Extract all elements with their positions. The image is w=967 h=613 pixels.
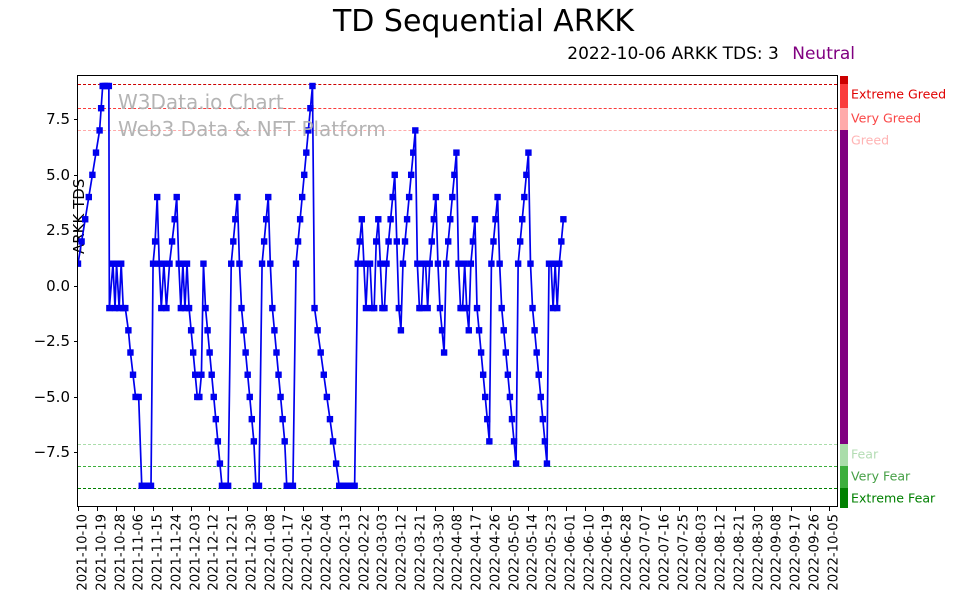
data-point-marker — [363, 305, 369, 311]
x-tick-label: 2022-01-26 — [301, 514, 316, 591]
x-tick-mark — [360, 506, 361, 511]
data-point-marker — [200, 260, 206, 266]
x-tick-mark — [435, 506, 436, 511]
x-tick-mark — [566, 506, 567, 511]
data-point-marker — [230, 238, 236, 244]
x-tick-label: 2022-02-04 — [319, 514, 334, 591]
x-tick-mark — [228, 506, 229, 511]
x-tick-label: 2022-03-30 — [432, 514, 447, 591]
data-point-marker — [449, 194, 455, 200]
data-point-marker — [482, 394, 488, 400]
data-point-marker — [169, 238, 175, 244]
x-tick-mark — [153, 506, 154, 511]
x-tick-label: 2022-09-08 — [770, 514, 785, 591]
data-point-marker — [429, 238, 435, 244]
data-point-marker — [234, 194, 240, 200]
data-point-marker — [466, 327, 472, 333]
data-point-marker — [122, 305, 128, 311]
data-point-marker — [375, 216, 381, 222]
data-point-marker — [152, 238, 158, 244]
plot-area[interactable]: ARKK TDS 7.55.02.50.0−2.5−5.0−7.52021-10… — [77, 75, 838, 507]
data-point-marker — [184, 260, 190, 266]
data-point-marker — [387, 216, 393, 222]
data-point-marker — [554, 305, 560, 311]
x-tick-label: 2022-03-03 — [376, 514, 391, 591]
data-point-marker — [505, 372, 511, 378]
data-point-marker — [242, 349, 248, 355]
series-path — [78, 86, 563, 486]
data-point-marker — [236, 260, 242, 266]
data-point-marker — [301, 172, 307, 178]
cb-very-fear — [840, 466, 848, 488]
colorbar-label-fear: Fear — [851, 446, 878, 461]
data-point-marker — [148, 483, 154, 489]
data-point-marker — [519, 216, 525, 222]
x-tick-label: 2021-12-30 — [244, 514, 259, 591]
x-tick-label: 2022-05-23 — [545, 514, 560, 591]
data-point-marker — [431, 216, 437, 222]
data-point-marker — [536, 372, 542, 378]
x-tick-label: 2021-11-24 — [169, 514, 184, 591]
data-point-marker — [400, 260, 406, 266]
data-point-marker — [435, 260, 441, 266]
data-point-marker — [398, 327, 404, 333]
x-tick-mark — [679, 506, 680, 511]
data-point-marker — [513, 460, 519, 466]
data-point-marker — [93, 149, 99, 155]
data-point-marker — [247, 394, 253, 400]
data-point-marker — [406, 194, 412, 200]
data-point-marker — [275, 372, 281, 378]
x-tick-label: 2021-12-03 — [188, 514, 203, 591]
data-point-marker — [377, 260, 383, 266]
data-point-marker — [464, 305, 470, 311]
data-point-marker — [381, 305, 387, 311]
y-tick-label: −5.0 — [34, 388, 70, 406]
data-point-marker — [327, 416, 333, 422]
data-point-marker — [251, 438, 257, 444]
data-point-marker — [213, 416, 219, 422]
data-point-marker — [389, 194, 395, 200]
chart-subtitle: 2022-10-06 ARKK TDS: 3 Neutral — [0, 44, 855, 64]
data-point-marker — [538, 394, 544, 400]
data-point-marker — [293, 260, 299, 266]
x-tick-mark — [603, 506, 604, 511]
data-point-marker — [439, 327, 445, 333]
chart-title: TD Sequential ARKK — [0, 4, 967, 39]
data-point-marker — [542, 438, 548, 444]
x-tick-mark — [116, 506, 117, 511]
data-point-marker — [198, 372, 204, 378]
data-point-marker — [414, 260, 420, 266]
data-point-marker — [106, 305, 112, 311]
x-tick-label: 2022-07-07 — [639, 514, 654, 591]
colorbar-label-very-fear: Very Fear — [851, 468, 910, 483]
x-tick-label: 2022-01-17 — [282, 514, 297, 591]
data-point-marker — [282, 438, 288, 444]
data-point-marker — [82, 216, 88, 222]
data-point-marker — [437, 305, 443, 311]
data-point-marker — [89, 172, 95, 178]
x-tick-mark — [97, 506, 98, 511]
data-point-marker — [269, 305, 275, 311]
colorbar-label-greed: Greed — [851, 133, 889, 148]
x-tick-label: 2022-08-12 — [714, 514, 729, 591]
cb-neutral — [840, 130, 848, 443]
data-point-marker — [265, 194, 271, 200]
x-tick-label: 2021-10-19 — [94, 514, 109, 591]
x-tick-mark — [209, 506, 210, 511]
data-point-marker — [560, 216, 566, 222]
data-point-marker — [509, 416, 515, 422]
x-tick-label: 2022-07-25 — [676, 514, 691, 591]
data-point-marker — [311, 305, 317, 311]
x-tick-label: 2022-04-26 — [488, 514, 503, 591]
data-point-marker — [314, 327, 320, 333]
data-point-marker — [118, 260, 124, 266]
data-point-marker — [161, 260, 167, 266]
data-point-marker — [492, 216, 498, 222]
data-point-marker — [529, 305, 535, 311]
data-point-marker — [166, 260, 172, 266]
x-tick-label: 2022-06-28 — [620, 514, 635, 591]
data-point-marker — [330, 438, 336, 444]
status-badge-mood: Neutral — [792, 44, 855, 64]
data-point-marker — [531, 327, 537, 333]
data-point-marker — [86, 194, 92, 200]
data-point-marker — [163, 305, 169, 311]
x-tick-mark — [660, 506, 661, 511]
data-point-marker — [125, 327, 131, 333]
data-point-marker — [441, 349, 447, 355]
x-tick-label: 2022-09-17 — [789, 514, 804, 591]
data-point-marker — [244, 372, 250, 378]
y-tick-label: 2.5 — [46, 221, 70, 239]
data-point-marker — [527, 260, 533, 266]
data-point-marker — [412, 127, 418, 133]
x-tick-label: 2022-02-22 — [357, 514, 372, 591]
x-tick-mark — [341, 506, 342, 511]
data-point-marker — [256, 483, 262, 489]
data-point-marker — [468, 260, 474, 266]
x-tick-mark — [453, 506, 454, 511]
x-tick-mark — [416, 506, 417, 511]
data-point-marker — [474, 305, 480, 311]
data-point-marker — [318, 349, 324, 355]
data-point-marker — [501, 327, 507, 333]
x-tick-label: 2022-04-17 — [470, 514, 485, 591]
data-point-marker — [373, 238, 379, 244]
data-point-marker — [303, 149, 309, 155]
data-point-marker — [127, 349, 133, 355]
x-tick-mark — [266, 506, 267, 511]
data-point-marker — [309, 83, 315, 89]
data-point-marker — [461, 260, 467, 266]
data-point-marker — [217, 460, 223, 466]
x-tick-mark — [772, 506, 773, 511]
data-point-marker — [321, 372, 327, 378]
data-point-marker — [267, 260, 273, 266]
data-point-marker — [490, 238, 496, 244]
data-point-marker — [511, 438, 517, 444]
data-point-marker — [455, 260, 461, 266]
x-tick-mark — [829, 506, 830, 511]
x-tick-mark — [284, 506, 285, 511]
x-tick-mark — [547, 506, 548, 511]
x-tick-label: 2021-11-15 — [151, 514, 166, 591]
data-point-marker — [295, 238, 301, 244]
x-tick-mark — [134, 506, 135, 511]
data-point-marker — [498, 305, 504, 311]
x-tick-label: 2022-05-05 — [507, 514, 522, 591]
data-point-marker — [192, 372, 198, 378]
data-point-marker — [540, 416, 546, 422]
x-tick-label: 2021-12-12 — [207, 514, 222, 591]
data-point-marker — [447, 216, 453, 222]
data-point-marker — [515, 260, 521, 266]
x-tick-mark — [641, 506, 642, 511]
data-point-marker — [472, 216, 478, 222]
data-point-marker — [273, 349, 279, 355]
x-tick-label: 2022-08-03 — [695, 514, 710, 591]
x-tick-label: 2022-08-21 — [732, 514, 747, 591]
data-point-marker — [249, 416, 255, 422]
x-tick-mark — [585, 506, 586, 511]
data-point-marker — [453, 149, 459, 155]
cb-very-greed — [840, 84, 848, 108]
data-point-marker — [215, 438, 221, 444]
data-point-marker — [208, 372, 214, 378]
data-point-marker — [324, 394, 330, 400]
x-tick-mark — [735, 506, 736, 511]
x-tick-mark — [397, 506, 398, 511]
x-tick-label: 2022-01-08 — [263, 514, 278, 591]
data-point-marker — [78, 238, 84, 244]
x-tick-label: 2022-08-30 — [751, 514, 766, 591]
data-point-marker — [186, 305, 192, 311]
data-point-marker — [211, 394, 217, 400]
data-point-marker — [558, 238, 564, 244]
data-point-marker — [507, 394, 513, 400]
x-tick-mark — [378, 506, 379, 511]
data-point-marker — [486, 438, 492, 444]
data-point-marker — [135, 394, 141, 400]
data-point-marker — [130, 372, 136, 378]
x-tick-label: 2022-05-14 — [526, 514, 541, 591]
data-point-marker — [533, 349, 539, 355]
x-tick-label: 2021-12-21 — [226, 514, 241, 591]
data-point-marker — [154, 194, 160, 200]
x-tick-label: 2022-04-08 — [451, 514, 466, 591]
data-point-marker — [261, 238, 267, 244]
x-tick-mark — [622, 506, 623, 511]
watermark-line-2: Web3 Data & NFT Platform — [118, 117, 386, 141]
data-point-marker — [238, 305, 244, 311]
data-point-marker — [299, 194, 305, 200]
colorbar-label-very-greed: Very Greed — [851, 111, 921, 126]
data-point-marker — [106, 83, 112, 89]
x-tick-mark — [528, 506, 529, 511]
x-tick-label: 2021-10-28 — [113, 514, 128, 591]
data-point-marker — [503, 349, 509, 355]
data-point-marker — [451, 172, 457, 178]
data-point-marker — [392, 172, 398, 178]
data-point-marker — [544, 460, 550, 466]
x-tick-mark — [472, 506, 473, 511]
colorbar-label-extreme-fear: Extreme Fear — [851, 491, 935, 506]
x-tick-label: 2022-06-19 — [601, 514, 616, 591]
data-point-marker — [521, 194, 527, 200]
x-tick-mark — [791, 506, 792, 511]
cb-extreme-fear — [840, 488, 848, 508]
data-point-marker — [190, 349, 196, 355]
x-tick-mark — [191, 506, 192, 511]
data-point-marker — [367, 260, 373, 266]
data-point-marker — [228, 260, 234, 266]
data-point-marker — [351, 483, 357, 489]
data-point-marker — [171, 216, 177, 222]
data-point-marker — [355, 260, 361, 266]
data-point-marker — [78, 260, 81, 266]
data-point-marker — [394, 238, 400, 244]
x-tick-mark — [754, 506, 755, 511]
data-point-marker — [277, 394, 283, 400]
y-tick-label: 0.0 — [46, 277, 70, 295]
x-tick-label: 2022-02-13 — [338, 514, 353, 591]
data-point-marker — [279, 416, 285, 422]
data-point-marker — [404, 216, 410, 222]
cb-greed — [840, 108, 848, 130]
y-tick-label: 7.5 — [46, 110, 70, 128]
x-tick-mark — [322, 506, 323, 511]
data-point-marker — [225, 483, 231, 489]
data-point-marker — [488, 260, 494, 266]
x-tick-label: 2021-10-10 — [76, 514, 91, 591]
data-point-marker — [206, 349, 212, 355]
x-tick-label: 2022-10-05 — [826, 514, 841, 591]
data-point-marker — [445, 238, 451, 244]
data-point-marker — [271, 327, 277, 333]
cb-fear — [840, 444, 848, 466]
data-point-marker — [408, 172, 414, 178]
x-tick-label: 2022-07-16 — [657, 514, 672, 591]
y-tick-label: 5.0 — [46, 166, 70, 184]
colorbar-label-extreme-greed: Extreme Greed — [851, 86, 946, 101]
data-point-marker — [307, 105, 313, 111]
data-point-marker — [188, 327, 194, 333]
x-tick-mark — [810, 506, 811, 511]
data-point-marker — [476, 327, 482, 333]
data-point-marker — [470, 238, 476, 244]
data-point-marker — [357, 238, 363, 244]
data-point-marker — [196, 394, 202, 400]
x-tick-mark — [510, 506, 511, 511]
data-point-marker — [359, 216, 365, 222]
data-point-marker — [523, 172, 529, 178]
x-tick-label: 2022-03-12 — [395, 514, 410, 591]
x-tick-mark — [78, 506, 79, 511]
cb-extreme-greed — [840, 76, 848, 84]
data-point-marker — [204, 327, 210, 333]
data-point-marker — [232, 216, 238, 222]
subtitle-value: 2022-10-06 ARKK TDS: 3 — [567, 44, 779, 64]
data-point-marker — [480, 372, 486, 378]
data-point-marker — [433, 194, 439, 200]
watermark-line-1: W3Data.io Chart — [118, 90, 284, 114]
data-point-marker — [240, 327, 246, 333]
data-point-marker — [484, 416, 490, 422]
data-point-marker — [202, 305, 208, 311]
data-point-marker — [174, 194, 180, 200]
data-point-marker — [150, 260, 156, 266]
data-point-marker — [418, 305, 424, 311]
x-tick-mark — [491, 506, 492, 511]
x-tick-mark — [303, 506, 304, 511]
data-point-marker — [385, 238, 391, 244]
data-point-marker — [478, 349, 484, 355]
data-point-marker — [410, 149, 416, 155]
data-point-marker — [371, 305, 377, 311]
data-point-marker — [297, 216, 303, 222]
data-point-marker — [96, 127, 102, 133]
data-point-marker — [494, 194, 500, 200]
data-point-marker — [427, 260, 433, 266]
data-point-marker — [402, 238, 408, 244]
x-tick-label: 2022-06-10 — [582, 514, 597, 591]
data-point-marker — [525, 149, 531, 155]
y-tick-label: −7.5 — [34, 443, 70, 461]
x-tick-label: 2021-11-06 — [132, 514, 147, 591]
x-tick-label: 2022-09-26 — [807, 514, 822, 591]
data-point-marker — [443, 260, 449, 266]
data-point-marker — [259, 260, 265, 266]
data-point-marker — [517, 238, 523, 244]
data-point-marker — [333, 460, 339, 466]
data-point-marker — [290, 483, 296, 489]
data-point-marker — [263, 216, 269, 222]
x-tick-mark — [172, 506, 173, 511]
x-tick-mark — [716, 506, 717, 511]
y-tick-label: −2.5 — [34, 332, 70, 350]
x-tick-mark — [247, 506, 248, 511]
data-point-marker — [556, 260, 562, 266]
data-point-marker — [496, 260, 502, 266]
data-point-marker — [396, 305, 402, 311]
x-tick-label: 2022-06-01 — [563, 514, 578, 591]
data-point-marker — [424, 305, 430, 311]
x-tick-label: 2022-03-21 — [413, 514, 428, 591]
data-point-marker — [98, 105, 104, 111]
data-point-marker — [383, 260, 389, 266]
x-tick-mark — [697, 506, 698, 511]
